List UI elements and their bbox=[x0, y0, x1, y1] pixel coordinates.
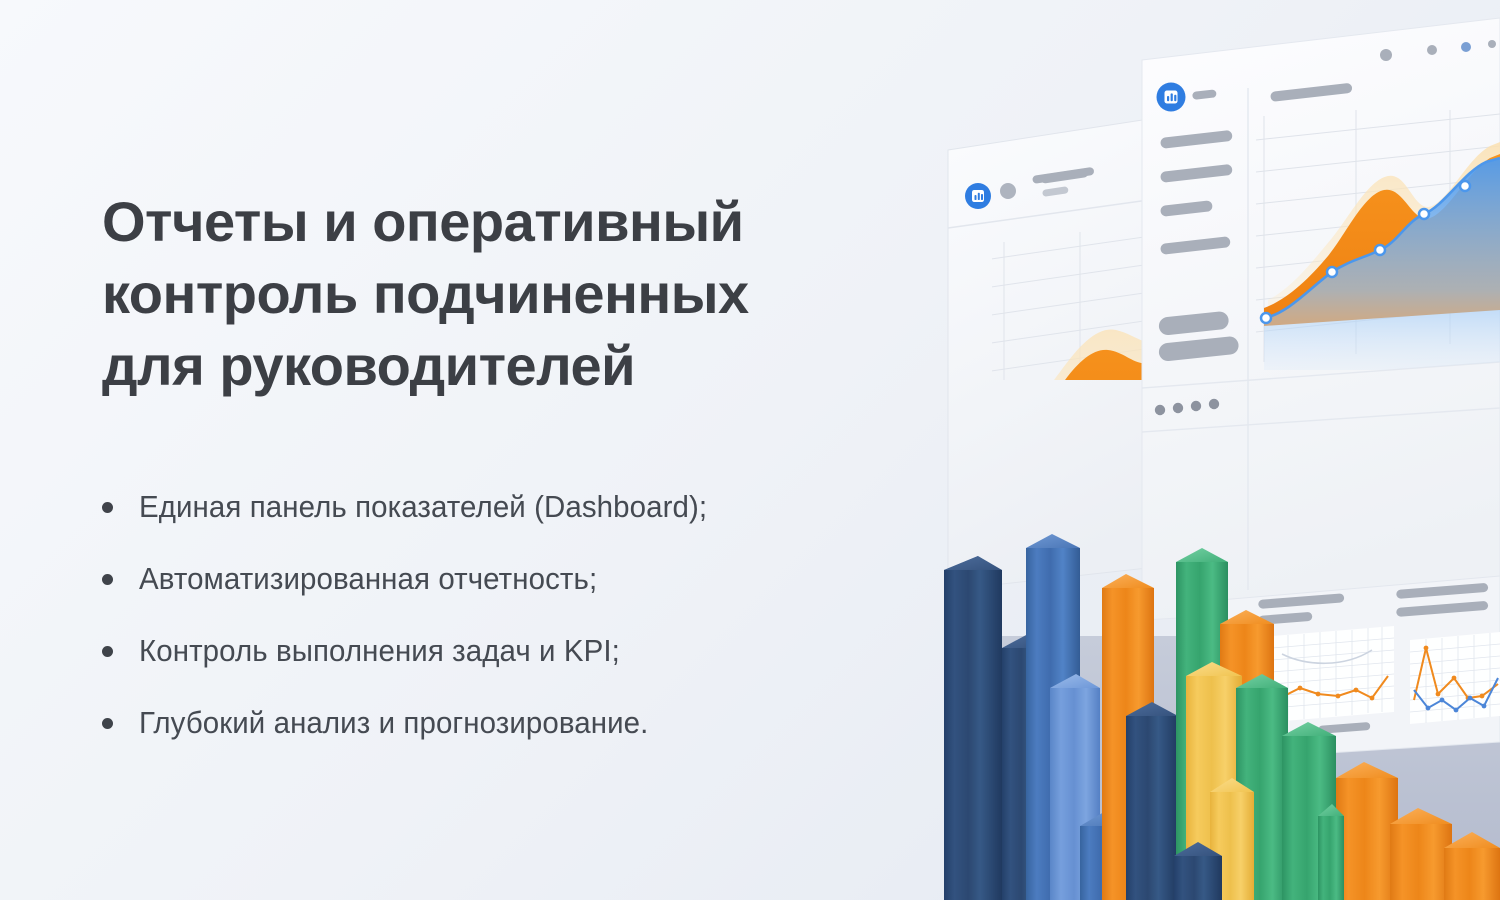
list-item: Контроль выполнения задач и KPI; bbox=[102, 632, 962, 670]
mini-line-chart-left bbox=[1272, 626, 1394, 722]
bullet-dot-icon bbox=[102, 646, 113, 657]
bar-orange-4 bbox=[1390, 808, 1452, 900]
bullet-dot-icon bbox=[102, 718, 113, 729]
analytics-illustration bbox=[920, 0, 1500, 900]
bullet-dot-icon bbox=[102, 574, 113, 585]
avatar bbox=[1000, 183, 1016, 199]
list-item: Автоматизированная отчетность; bbox=[102, 560, 962, 598]
list-item: Единая панель показателей (Dashboard); bbox=[102, 488, 962, 526]
front-card-logo bbox=[1157, 83, 1186, 112]
slide-root: Отчеты и оперативный контроль подчиненны… bbox=[0, 0, 1500, 900]
bullet-label: Контроль выполнения задач и KPI; bbox=[139, 632, 620, 670]
text-column: Отчеты и оперативный контроль подчиненны… bbox=[102, 186, 962, 742]
bar-navy-3 bbox=[1126, 702, 1178, 900]
page-title: Отчеты и оперативный контроль подчиненны… bbox=[102, 186, 962, 402]
bullet-label: Единая панель показателей (Dashboard); bbox=[139, 488, 707, 526]
document-chart-icon bbox=[965, 183, 991, 209]
bullet-label: Глубокий анализ и прогнозирование. bbox=[139, 704, 648, 742]
bullet-label: Автоматизированная отчетность; bbox=[139, 560, 597, 598]
feature-bullet-list: Единая панель показателей (Dashboard); А… bbox=[102, 488, 962, 742]
list-item: Глубокий анализ и прогнозирование. bbox=[102, 704, 962, 742]
mini-line-chart-right bbox=[1410, 632, 1500, 724]
bar-orange-3 bbox=[1336, 762, 1398, 900]
bullet-dot-icon bbox=[102, 502, 113, 513]
bar-green-4 bbox=[1318, 804, 1344, 900]
front-dashboard-card bbox=[1142, 18, 1500, 620]
